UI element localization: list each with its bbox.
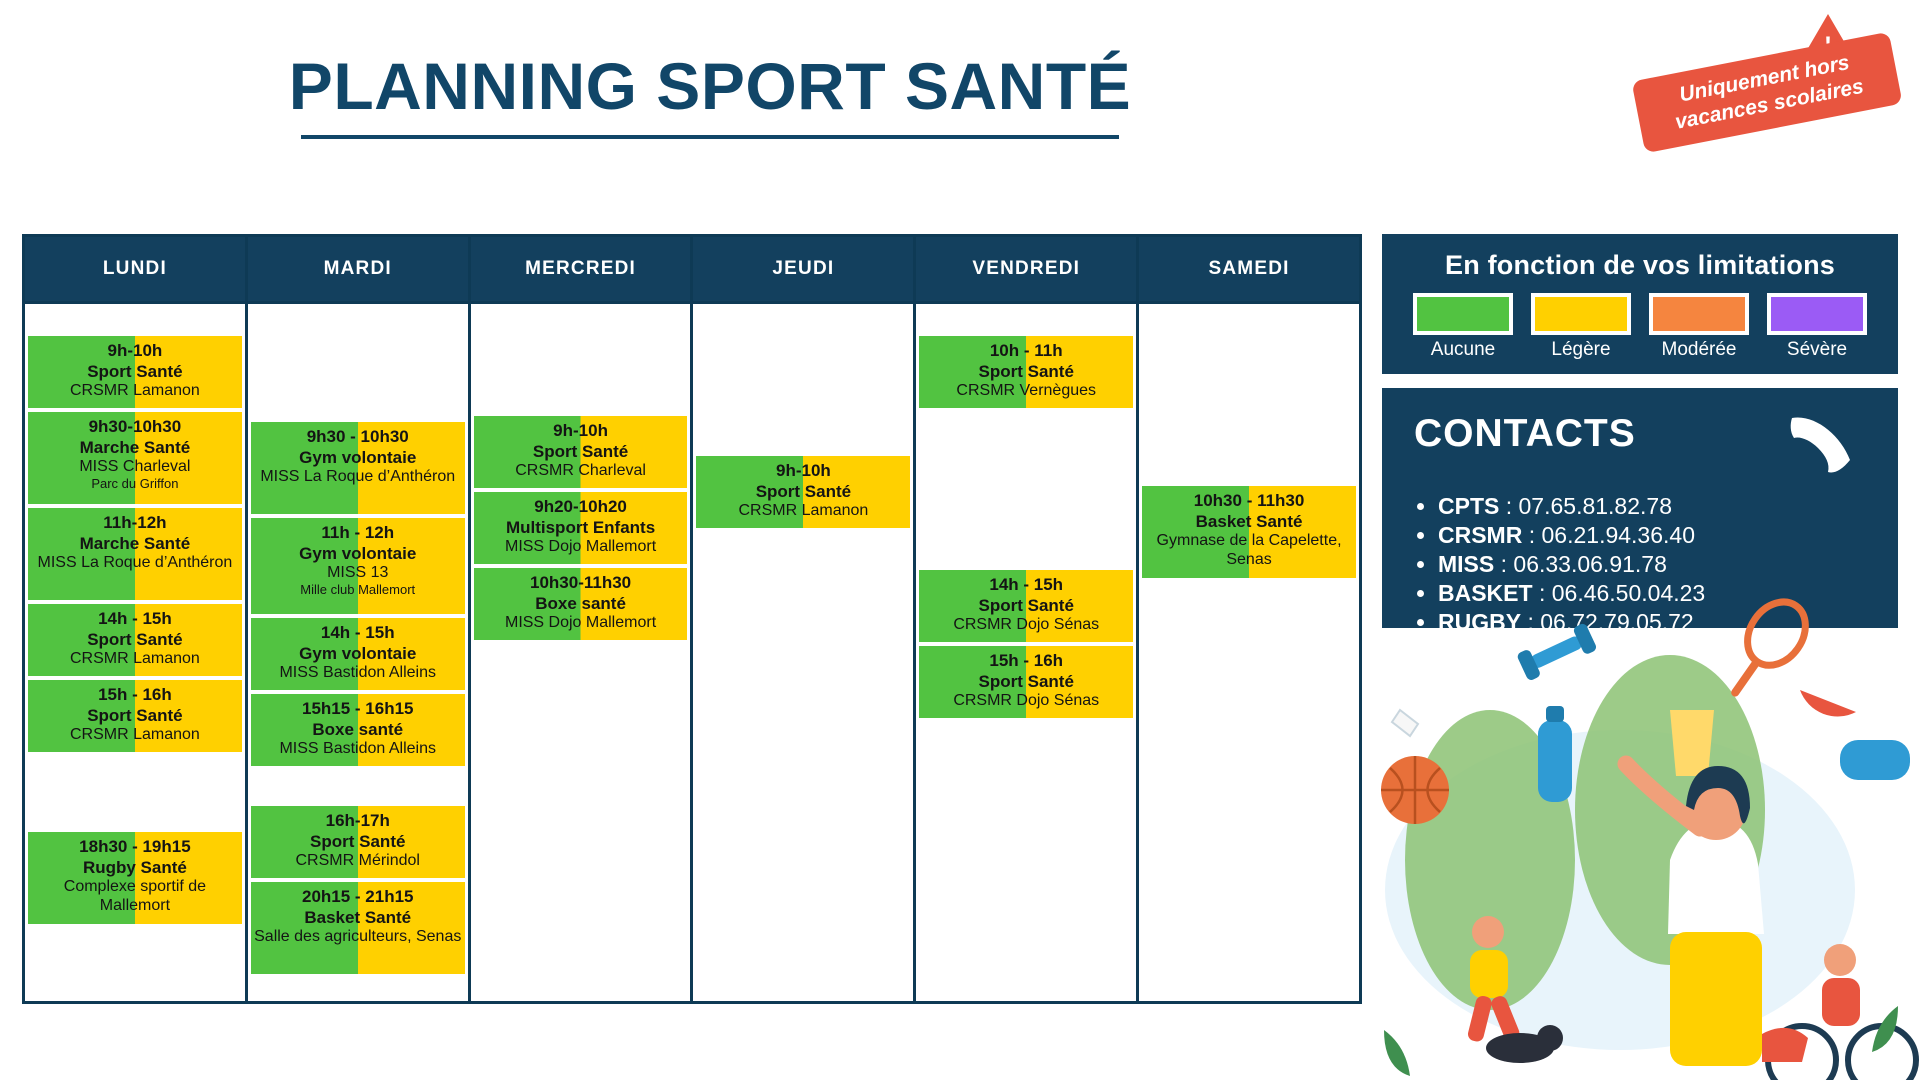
sports-illustration bbox=[1370, 560, 1920, 1080]
phone-icon bbox=[1784, 412, 1860, 478]
day-column-samedi: SAMEDI10h30 - 11h30Basket SantéGymnase d… bbox=[1139, 237, 1359, 1001]
title-block: PLANNING SPORT SANTÉ bbox=[0, 52, 1420, 139]
session-title: Gym volontaie bbox=[254, 644, 462, 665]
session-time: 11h - 12h bbox=[254, 523, 462, 544]
session-time: 10h30-11h30 bbox=[477, 573, 685, 594]
session-time: 15h15 - 16h15 bbox=[254, 699, 462, 720]
legend-swatch bbox=[1767, 293, 1867, 335]
session-title: Sport Santé bbox=[31, 362, 239, 383]
legend-items: AucuneLégèreModéréeSévère bbox=[1382, 293, 1898, 361]
legend-panel: En fonction de vos limitations AucuneLég… bbox=[1382, 234, 1898, 374]
legend-swatch bbox=[1649, 293, 1749, 335]
session-location: MISS La Roque d’Anthéron bbox=[254, 468, 462, 487]
day-body-jeudi: 9h-10hSport SantéCRSMR Lamanon bbox=[693, 304, 913, 1001]
session-location: CRSMR Dojo Sénas bbox=[922, 692, 1130, 711]
session-time: 15h - 16h bbox=[922, 651, 1130, 672]
session-location: MISS Charleval bbox=[31, 458, 239, 477]
session-time: 9h-10h bbox=[31, 341, 239, 362]
session-card[interactable]: 10h30-11h30Boxe santéMISS Dojo Mallemort bbox=[474, 568, 688, 640]
legend-label: Modérée bbox=[1649, 339, 1749, 361]
session-time: 16h-17h bbox=[254, 811, 462, 832]
session-title: Sport Santé bbox=[922, 362, 1130, 383]
day-header-lundi: LUNDI bbox=[25, 237, 245, 304]
day-column-vendredi: VENDREDI10h - 11hSport SantéCRSMR Vernèg… bbox=[916, 237, 1139, 1001]
legend-item-légère: Légère bbox=[1531, 293, 1631, 361]
session-card[interactable]: 15h15 - 16h15Boxe santéMISS Bastidon All… bbox=[251, 694, 465, 766]
day-column-lundi: LUNDI9h-10hSport SantéCRSMR Lamanon9h30-… bbox=[25, 237, 248, 1001]
session-location: MISS La Roque d’Anthéron bbox=[31, 554, 239, 573]
title-underline bbox=[301, 135, 1119, 139]
session-card[interactable]: 9h30-10h30Marche SantéMISS CharlevalParc… bbox=[28, 412, 242, 504]
session-card[interactable]: 11h-12hMarche SantéMISS La Roque d’Anthé… bbox=[28, 508, 242, 600]
session-title: Boxe santé bbox=[477, 594, 685, 615]
day-column-jeudi: JEUDI9h-10hSport SantéCRSMR Lamanon bbox=[693, 237, 916, 1001]
session-time: 9h-10h bbox=[699, 461, 907, 482]
session-location: CRSMR Lamanon bbox=[699, 502, 907, 521]
session-title: Basket Santé bbox=[1145, 512, 1353, 533]
legend-swatch bbox=[1413, 293, 1513, 335]
session-location: CRSMR Lamanon bbox=[31, 726, 239, 745]
session-card[interactable]: 16h-17hSport SantéCRSMR Mérindol bbox=[251, 806, 465, 878]
session-title: Rugby Santé bbox=[31, 858, 239, 879]
legend-label: Aucune bbox=[1413, 339, 1513, 361]
session-time: 14h - 15h bbox=[922, 575, 1130, 596]
day-body-samedi: 10h30 - 11h30Basket SantéGymnase de la C… bbox=[1139, 304, 1359, 1001]
session-card[interactable]: 9h-10hSport SantéCRSMR Charleval bbox=[474, 416, 688, 488]
session-time: 9h20-10h20 bbox=[477, 497, 685, 518]
day-header-mercredi: MERCREDI bbox=[471, 237, 691, 304]
session-location: Salle des agriculteurs, Senas bbox=[254, 928, 462, 947]
session-time: 20h15 - 21h15 bbox=[254, 887, 462, 908]
legend-swatch bbox=[1531, 293, 1631, 335]
session-time: 15h - 16h bbox=[31, 685, 239, 706]
day-header-mardi: MARDI bbox=[248, 237, 468, 304]
contact-separator: : bbox=[1499, 493, 1518, 519]
session-location: Gymnase de la Capelette, Senas bbox=[1145, 532, 1353, 570]
session-location: CRSMR Lamanon bbox=[31, 650, 239, 669]
day-body-vendredi: 10h - 11hSport SantéCRSMR Vernègues14h -… bbox=[916, 304, 1136, 1001]
session-card[interactable]: 18h30 - 19h15Rugby SantéComplexe sportif… bbox=[28, 832, 242, 924]
session-card[interactable]: 9h20-10h20Multisport EnfantsMISS Dojo Ma… bbox=[474, 492, 688, 564]
session-location: CRSMR Lamanon bbox=[31, 382, 239, 401]
session-title: Sport Santé bbox=[699, 482, 907, 503]
session-time: 9h30-10h30 bbox=[31, 417, 239, 438]
session-title: Marche Santé bbox=[31, 438, 239, 459]
session-title: Marche Santé bbox=[31, 534, 239, 555]
session-time: 14h - 15h bbox=[254, 623, 462, 644]
session-title: Boxe santé bbox=[254, 720, 462, 741]
legend-item-aucune: Aucune bbox=[1413, 293, 1513, 361]
legend-label: Sévère bbox=[1767, 339, 1867, 361]
session-location: CRSMR Mérindol bbox=[254, 852, 462, 871]
day-body-lundi: 9h-10hSport SantéCRSMR Lamanon9h30-10h30… bbox=[25, 304, 245, 1001]
session-location: CRSMR Vernègues bbox=[922, 382, 1130, 401]
session-time: 10h30 - 11h30 bbox=[1145, 491, 1353, 512]
session-location: MISS Dojo Mallemort bbox=[477, 538, 685, 557]
session-location: MISS Bastidon Alleins bbox=[254, 664, 462, 683]
session-card[interactable]: 9h-10hSport SantéCRSMR Lamanon bbox=[28, 336, 242, 408]
contact-separator: : bbox=[1522, 522, 1541, 548]
session-card[interactable]: 14h - 15hSport SantéCRSMR Lamanon bbox=[28, 604, 242, 676]
session-title: Sport Santé bbox=[254, 832, 462, 853]
contact-item-cpts[interactable]: CPTS : 07.65.81.82.78 bbox=[1438, 492, 1884, 521]
session-location: CRSMR Charleval bbox=[477, 462, 685, 481]
session-title: Multisport Enfants bbox=[477, 518, 685, 539]
legend-title: En fonction de vos limitations bbox=[1382, 234, 1898, 281]
session-title: Sport Santé bbox=[31, 630, 239, 651]
session-card[interactable]: 15h - 16hSport SantéCRSMR Dojo Sénas bbox=[919, 646, 1133, 718]
day-body-mardi: 9h30 - 10h30Gym volontaieMISS La Roque d… bbox=[248, 304, 468, 1001]
page-title: PLANNING SPORT SANTÉ bbox=[0, 52, 1420, 121]
session-card[interactable]: 20h15 - 21h15Basket SantéSalle des agric… bbox=[251, 882, 465, 974]
day-column-mardi: MARDI9h30 - 10h30Gym volontaieMISS La Ro… bbox=[248, 237, 471, 1001]
session-title: Basket Santé bbox=[254, 908, 462, 929]
contact-phone[interactable]: 06.21.94.36.40 bbox=[1542, 522, 1695, 548]
session-card[interactable]: 10h30 - 11h30Basket SantéGymnase de la C… bbox=[1142, 486, 1356, 578]
day-header-vendredi: VENDREDI bbox=[916, 237, 1136, 304]
session-card[interactable]: 11h - 12hGym volontaieMISS 13Mille club … bbox=[251, 518, 465, 614]
day-header-jeudi: JEUDI bbox=[693, 237, 913, 304]
legend-item-modérée: Modérée bbox=[1649, 293, 1749, 361]
session-location: CRSMR Dojo Sénas bbox=[922, 616, 1130, 635]
session-card[interactable]: 9h-10hSport SantéCRSMR Lamanon bbox=[696, 456, 910, 528]
day-header-samedi: SAMEDI bbox=[1139, 237, 1359, 304]
warning-label: Uniquement hors vacances scolaires bbox=[1631, 32, 1902, 153]
session-time: 10h - 11h bbox=[922, 341, 1130, 362]
session-location: MISS 13 bbox=[254, 564, 462, 583]
session-card[interactable]: 15h - 16hSport SantéCRSMR Lamanon bbox=[28, 680, 242, 752]
day-body-mercredi: 9h-10hSport SantéCRSMR Charleval9h20-10h… bbox=[471, 304, 691, 1001]
session-location: MISS Dojo Mallemort bbox=[477, 614, 685, 633]
session-card[interactable]: 14h - 15hGym volontaieMISS Bastidon Alle… bbox=[251, 618, 465, 690]
session-time: 18h30 - 19h15 bbox=[31, 837, 239, 858]
session-title: Sport Santé bbox=[31, 706, 239, 727]
session-location: MISS Bastidon Alleins bbox=[254, 740, 462, 759]
warning-stamp: ! Uniquement hors vacances scolaires bbox=[1652, 14, 1902, 174]
session-time: 9h30 - 10h30 bbox=[254, 427, 462, 448]
contact-name: CPTS bbox=[1438, 493, 1499, 519]
session-time: 11h-12h bbox=[31, 513, 239, 534]
session-card[interactable]: 9h30 - 10h30Gym volontaieMISS La Roque d… bbox=[251, 422, 465, 514]
schedule-table: LUNDI9h-10hSport SantéCRSMR Lamanon9h30-… bbox=[22, 234, 1362, 1004]
session-title: Gym volontaie bbox=[254, 544, 462, 565]
session-sublocation: Parc du Griffon bbox=[31, 477, 239, 492]
legend-item-sévère: Sévère bbox=[1767, 293, 1867, 361]
session-title: Sport Santé bbox=[477, 442, 685, 463]
session-sublocation: Mille club Mallemort bbox=[254, 583, 462, 598]
session-title: Sport Santé bbox=[922, 672, 1130, 693]
contact-item-crsmr[interactable]: CRSMR : 06.21.94.36.40 bbox=[1438, 521, 1884, 550]
session-location: Complexe sportif de Mallemort bbox=[31, 878, 239, 916]
contact-phone[interactable]: 07.65.81.82.78 bbox=[1519, 493, 1672, 519]
session-card[interactable]: 14h - 15hSport SantéCRSMR Dojo Sénas bbox=[919, 570, 1133, 642]
session-time: 14h - 15h bbox=[31, 609, 239, 630]
session-time: 9h-10h bbox=[477, 421, 685, 442]
contacts-title: CONTACTS bbox=[1414, 412, 1636, 456]
session-title: Sport Santé bbox=[922, 596, 1130, 617]
session-title: Gym volontaie bbox=[254, 448, 462, 469]
day-column-mercredi: MERCREDI9h-10hSport SantéCRSMR Charleval… bbox=[471, 237, 694, 1001]
contact-name: CRSMR bbox=[1438, 522, 1522, 548]
legend-label: Légère bbox=[1531, 339, 1631, 361]
session-card[interactable]: 10h - 11hSport SantéCRSMR Vernègues bbox=[919, 336, 1133, 408]
